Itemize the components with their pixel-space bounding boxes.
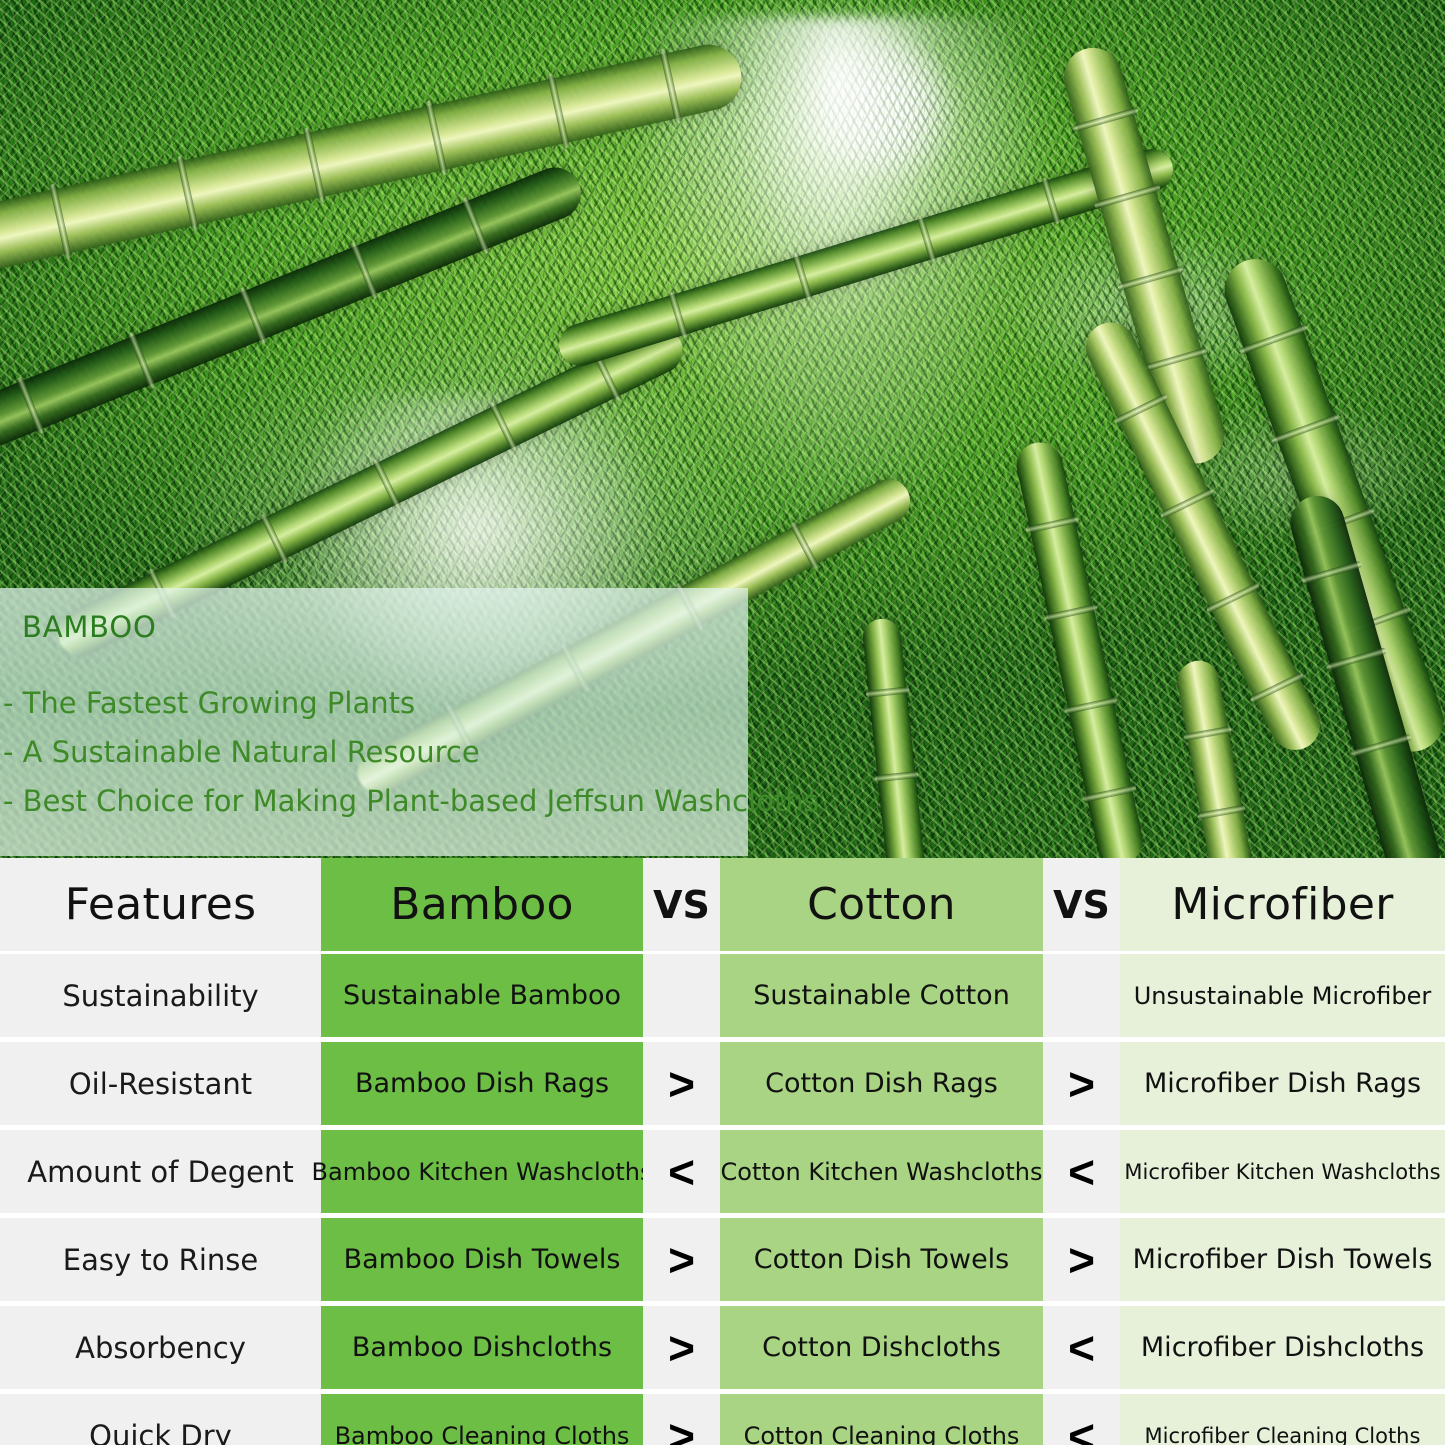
row-feature-label: Easy to Rinse [55, 1243, 266, 1277]
table-row: Amount of Degent Bamboo Kitchen Washclot… [0, 1130, 1445, 1213]
row-microfiber-cell: Microfiber Dishcloths [1120, 1306, 1445, 1389]
row-bamboo-label: Sustainable Bamboo [337, 980, 627, 1011]
row-feature-cell: Absorbency [0, 1306, 321, 1389]
row-cotton-label: Cotton Dishcloths [756, 1332, 1007, 1363]
row-cotton-label: Sustainable Cotton [747, 980, 1016, 1011]
header-cell-microfiber: Microfiber [1120, 858, 1445, 951]
row-microfiber-cell: Unsustainable Microfiber [1120, 954, 1445, 1037]
row-feature-label: Absorbency [67, 1331, 254, 1365]
row-operator-1-glyph: > [668, 1061, 695, 1107]
overlay-bullet-3: - Best Choice for Making Plant-based Jef… [3, 784, 819, 818]
table-row: Quick Dry Bamboo Cleaning Cloths > Cotto… [0, 1394, 1445, 1445]
row-cotton-cell: Cotton Dish Towels [720, 1218, 1043, 1301]
row-bamboo-label: Bamboo Dish Rags [349, 1068, 615, 1099]
row-cotton-cell: Sustainable Cotton [720, 954, 1043, 1037]
row-bamboo-cell: Bamboo Kitchen Washcloths [321, 1130, 643, 1213]
overlay-bullet-2: - A Sustainable Natural Resource [3, 735, 480, 769]
bamboo-forest-photo: BAMBOO - The Fastest Growing Plants - A … [0, 0, 1445, 858]
row-operator-1: > [643, 1306, 720, 1389]
header-cell-cotton: Cotton [720, 858, 1043, 951]
row-microfiber-label: Microfiber Dish Rags [1138, 1068, 1427, 1099]
row-operator-1: < [643, 1130, 720, 1213]
row-operator-2-glyph: < [1068, 1149, 1095, 1195]
row-bamboo-cell: Bamboo Dish Rags [321, 1042, 643, 1125]
row-operator-2: < [1043, 1394, 1120, 1445]
header-label-cotton: Cotton [807, 879, 956, 930]
row-operator-2 [1043, 954, 1120, 1037]
row-operator-2: > [1043, 1218, 1120, 1301]
row-operator-2-glyph: > [1068, 1237, 1095, 1283]
overlay-bullet-1: - The Fastest Growing Plants [3, 686, 415, 720]
row-feature-cell: Amount of Degent [0, 1130, 321, 1213]
row-operator-1: > [643, 1218, 720, 1301]
product-infographic: BAMBOO - The Fastest Growing Plants - A … [0, 0, 1445, 1445]
table-row: Easy to Rinse Bamboo Dish Towels > Cotto… [0, 1218, 1445, 1301]
header-label-bamboo: Bamboo [390, 879, 574, 930]
header-label-vs-1: VS [653, 883, 710, 927]
table-row: Absorbency Bamboo Dishcloths > Cotton Di… [0, 1306, 1445, 1389]
row-operator-1: > [643, 1394, 720, 1445]
row-bamboo-cell: Bamboo Dishcloths [321, 1306, 643, 1389]
table-row: Oil-Resistant Bamboo Dish Rags > Cotton … [0, 1042, 1445, 1125]
row-bamboo-label: Bamboo Dishcloths [346, 1332, 618, 1363]
row-bamboo-label: Bamboo Kitchen Washcloths [306, 1158, 659, 1186]
row-bamboo-cell: Bamboo Cleaning Cloths [321, 1394, 643, 1445]
row-cotton-cell: Cotton Kitchen Washcloths [720, 1130, 1043, 1213]
row-operator-2: > [1043, 1042, 1120, 1125]
row-bamboo-label: Bamboo Cleaning Cloths [329, 1422, 636, 1445]
header-label-microfiber: Microfiber [1171, 879, 1393, 930]
row-operator-2-glyph: < [1068, 1413, 1095, 1445]
row-cotton-label: Cotton Kitchen Washcloths [715, 1158, 1049, 1186]
row-feature-cell: Oil-Resistant [0, 1042, 321, 1125]
header-cell-vs-1: VS [643, 858, 720, 951]
header-label-features: Features [65, 879, 257, 930]
row-operator-2: < [1043, 1306, 1120, 1389]
row-microfiber-cell: Microfiber Dish Rags [1120, 1042, 1445, 1125]
row-microfiber-label: Microfiber Dish Towels [1127, 1244, 1439, 1275]
row-cotton-label: Cotton Dish Rags [759, 1068, 1004, 1099]
row-operator-1-glyph: > [668, 1325, 695, 1371]
header-cell-vs-2: VS [1043, 858, 1120, 951]
row-cotton-cell: Cotton Dish Rags [720, 1042, 1043, 1125]
row-feature-label: Amount of Degent [19, 1155, 302, 1189]
header-label-vs-2: VS [1053, 883, 1110, 927]
row-operator-1-glyph: > [668, 1237, 695, 1283]
header-cell-bamboo: Bamboo [321, 858, 643, 951]
row-cotton-cell: Cotton Cleaning Cloths [720, 1394, 1043, 1445]
row-feature-cell: Quick Dry [0, 1394, 321, 1445]
row-cotton-cell: Cotton Dishcloths [720, 1306, 1043, 1389]
row-operator-2: < [1043, 1130, 1120, 1213]
row-bamboo-cell: Sustainable Bamboo [321, 954, 643, 1037]
row-feature-cell: Sustainability [0, 954, 321, 1037]
row-operator-1-glyph: > [668, 1413, 695, 1445]
bamboo-info-overlay: BAMBOO - The Fastest Growing Plants - A … [0, 588, 748, 856]
row-microfiber-label: Microfiber Kitchen Washcloths [1118, 1160, 1445, 1184]
row-cotton-label: Cotton Cleaning Cloths [738, 1422, 1026, 1445]
row-microfiber-label: Microfiber Cleaning Cloths [1139, 1424, 1427, 1445]
row-operator-1: > [643, 1042, 720, 1125]
header-cell-features: Features [0, 858, 321, 951]
row-operator-2-glyph: > [1068, 1061, 1095, 1107]
row-feature-label: Oil-Resistant [61, 1067, 260, 1101]
row-microfiber-cell: Microfiber Kitchen Washcloths [1120, 1130, 1445, 1213]
row-operator-2-glyph: < [1068, 1325, 1095, 1371]
row-microfiber-cell: Microfiber Dish Towels [1120, 1218, 1445, 1301]
row-bamboo-label: Bamboo Dish Towels [338, 1244, 627, 1275]
row-microfiber-label: Microfiber Dishcloths [1135, 1332, 1430, 1363]
row-feature-label: Quick Dry [81, 1419, 240, 1445]
row-feature-cell: Easy to Rinse [0, 1218, 321, 1301]
row-feature-label: Sustainability [54, 979, 266, 1013]
row-microfiber-cell: Microfiber Cleaning Cloths [1120, 1394, 1445, 1445]
row-bamboo-cell: Bamboo Dish Towels [321, 1218, 643, 1301]
overlay-title: BAMBOO [22, 610, 157, 644]
comparison-table: Features Bamboo VS Cotton VS Microfiber … [0, 858, 1445, 1445]
row-cotton-label: Cotton Dish Towels [748, 1244, 1016, 1275]
table-row: Sustainability Sustainable Bamboo Sustai… [0, 954, 1445, 1037]
row-operator-1 [643, 954, 720, 1037]
row-microfiber-label: Unsustainable Microfiber [1128, 982, 1438, 1010]
table-header-row: Features Bamboo VS Cotton VS Microfiber [0, 858, 1445, 951]
row-operator-1-glyph: < [668, 1149, 695, 1195]
